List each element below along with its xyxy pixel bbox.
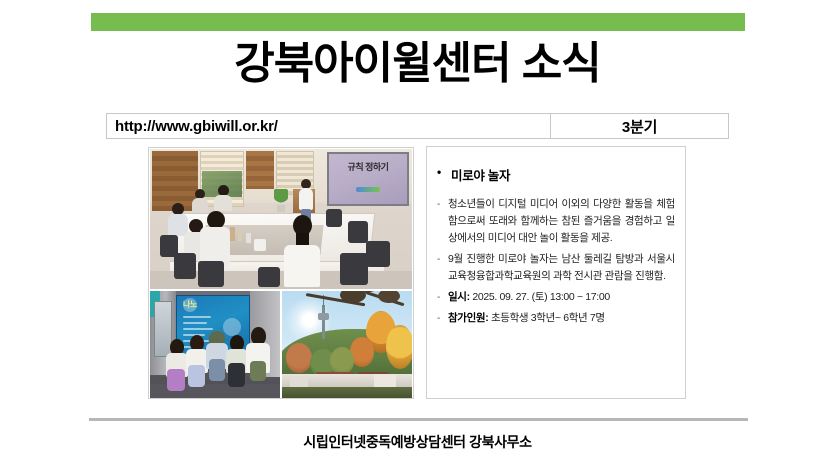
content-item: - 9월 진행한 미로야 놀자는 남산 둘레길 탐방과 서울시 교육청융합과학교… <box>437 251 675 285</box>
site-url-text[interactable]: http://www.gbiwill.or.kr/ <box>107 114 551 138</box>
footer-divider <box>89 418 748 421</box>
green-header-bar <box>91 13 745 31</box>
quarter-label: 3분기 <box>551 114 728 138</box>
dash-icon: - <box>437 310 448 327</box>
content-panel: • 미로야 놀자 - 청소년들이 디지털 미디어 이외의 다양한 활동을 체험함… <box>426 146 686 399</box>
footer-text: 시립인터넷중독예방상담센터 강북사무소 <box>0 432 835 452</box>
content-heading: • 미로야 놀자 <box>437 165 675 184</box>
content-item-date-line: 일시: 2025. 09. 27. (토) 13:00 ~ 17:00 <box>448 289 675 306</box>
dash-icon: - <box>437 289 448 306</box>
content-item-text: 9월 진행한 미로야 놀자는 남산 둘레길 탐방과 서울시 교육청융합과학교육원… <box>448 251 675 285</box>
content-item-text: 청소년들이 디지털 미디어 이외의 다양한 활동을 체험함으로써 또래와 함께하… <box>448 196 675 247</box>
date-label: 일시: <box>448 291 470 303</box>
science-exhibit-photo: 나노 <box>150 291 280 398</box>
dash-icon: - <box>437 196 448 213</box>
dash-icon: - <box>437 251 448 268</box>
content-item-date: - 일시: 2025. 09. 27. (토) 13:00 ~ 17:00 <box>437 289 675 306</box>
date-value: 2025. 09. 27. (토) 13:00 ~ 17:00 <box>472 291 609 303</box>
photo-collage: 규칙 정하기 <box>148 147 414 399</box>
content-heading-text: 미로야 놀자 <box>451 165 510 184</box>
page-title: 강북아이윌센터 소식 <box>0 36 835 92</box>
projection-screen-caption: 규칙 정하기 <box>329 160 407 173</box>
classroom-activity-photo: 규칙 정하기 <box>150 149 412 289</box>
content-item: - 청소년들이 디지털 미디어 이외의 다양한 활동을 체험함으로써 또래와 함… <box>437 196 675 247</box>
participants-label: 참가인원: <box>448 312 488 324</box>
content-item-participants: - 참가인원: 초등학생 3학년~ 6학년 7명 <box>437 310 675 327</box>
projection-screen: 규칙 정하기 <box>327 152 409 206</box>
content-item-participants-line: 참가인원: 초등학생 3학년~ 6학년 7명 <box>448 310 675 327</box>
participants-value: 초등학생 3학년~ 6학년 7명 <box>491 312 605 324</box>
bullet-icon: • <box>437 165 451 179</box>
namsan-tower-photo <box>282 291 412 398</box>
info-bar: http://www.gbiwill.or.kr/ 3분기 <box>106 113 729 139</box>
